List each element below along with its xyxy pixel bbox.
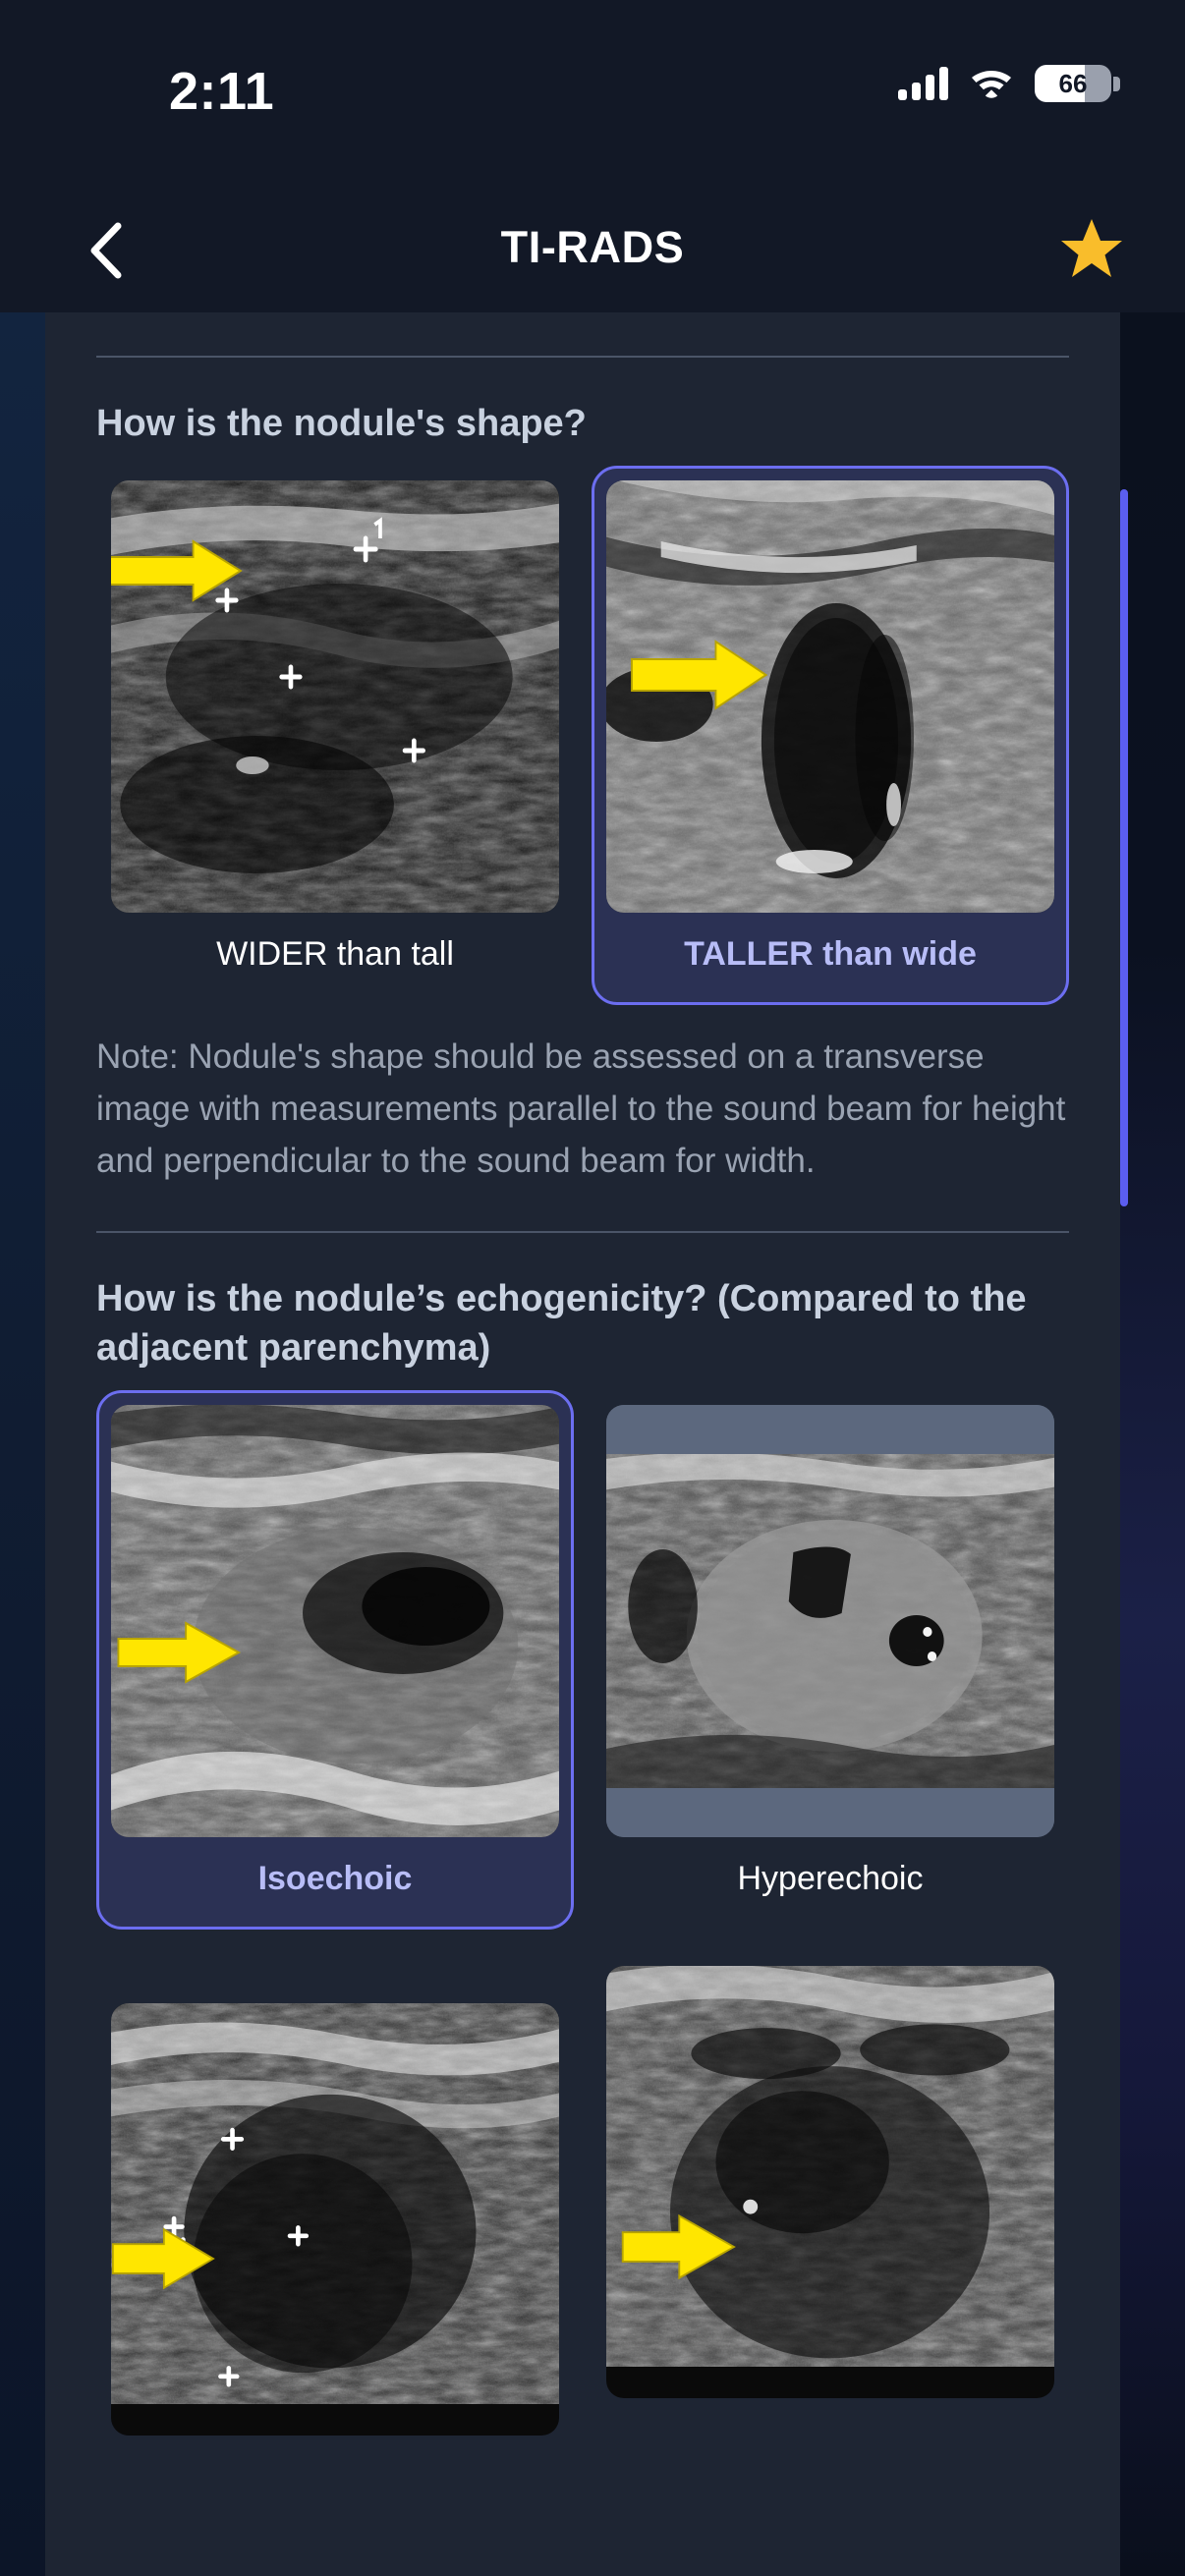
ultrasound-taller-than-wide <box>606 480 1054 913</box>
question-shape: How is the nodule's shape? <box>96 399 1069 448</box>
section-divider-top <box>96 356 1069 358</box>
option-group-shape: WIDER than tall <box>96 466 1069 1005</box>
ultrasound-very-hypoechoic <box>606 1966 1054 2398</box>
option-card-taller-than-wide[interactable]: TALLER than wide <box>592 466 1069 1005</box>
question-echogenicity: How is the nodule’s echogenicity? (Compa… <box>96 1274 1069 1372</box>
option-label-isoechoic: Isoechoic <box>111 1837 559 1915</box>
option-card-very-hypoechoic[interactable] <box>592 1951 1069 2450</box>
status-time: 2:11 <box>169 61 274 122</box>
option-group-echogenicity: Isoechoic <box>96 1390 1069 1930</box>
ultrasound-isoechoic <box>111 1405 559 1837</box>
cellular-signal-icon <box>898 67 948 100</box>
option-label-taller-than-wide: TALLER than wide <box>606 913 1054 990</box>
option-label-hyperechoic: Hyperechoic <box>606 1837 1054 1915</box>
note-shape: Note: Nodule's shape should be assessed … <box>96 1031 1069 1188</box>
battery-icon: 66 <box>1035 65 1111 102</box>
option-group-echogenicity-row2 <box>96 1951 1069 2488</box>
page-title: TI-RADS <box>0 222 1185 273</box>
ultrasound-hypoechoic <box>111 2003 559 2436</box>
option-card-hyperechoic[interactable]: Hyperechoic <box>592 1390 1069 1930</box>
option-card-hypoechoic[interactable] <box>96 1988 574 2488</box>
backdrop-right-edge <box>1120 312 1185 2576</box>
option-card-wider-than-tall[interactable]: WIDER than tall <box>96 466 574 1005</box>
option-card-isoechoic[interactable]: Isoechoic <box>96 1390 574 1930</box>
battery-level-label: 66 <box>1035 65 1111 102</box>
option-label-wider-than-tall: WIDER than tall <box>111 913 559 990</box>
option-label-very-hypoechoic <box>606 2398 1054 2436</box>
wifi-icon <box>970 67 1013 100</box>
ultrasound-hyperechoic <box>606 1405 1054 1837</box>
scrollbar-thumb[interactable] <box>1120 489 1128 1206</box>
status-indicators: 66 <box>898 65 1120 102</box>
status-bar: 2:11 66 <box>0 0 1185 187</box>
navigation-bar: TI-RADS <box>0 187 1185 312</box>
backdrop-left-edge <box>0 312 45 2576</box>
ultrasound-wider-than-tall <box>111 480 559 913</box>
option-label-hypoechoic <box>111 2436 559 2473</box>
battery-tip <box>1113 77 1120 91</box>
star-icon[interactable] <box>1059 216 1124 281</box>
app-root: 2:11 66 TI-RADS <box>0 0 1185 2576</box>
section-divider-echogenicity <box>96 1231 1069 1233</box>
scroll-content[interactable]: How is the nodule's shape? <box>45 312 1120 2576</box>
